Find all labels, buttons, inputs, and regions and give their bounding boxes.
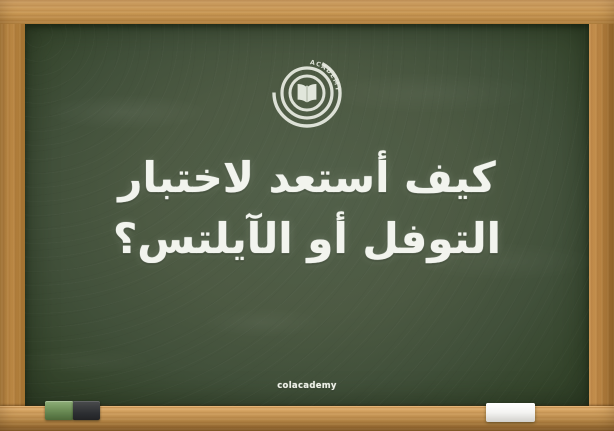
frame-right-rail — [588, 0, 614, 431]
brand-logo: ACADEMY — [270, 56, 344, 130]
headline-line-2: التوفل أو الآيلتس؟ — [25, 213, 589, 266]
frame-left-rail — [0, 0, 26, 431]
chalkboard-poster: ACADEMY كيف أستعد لاختبار التوفل أو الآي… — [0, 0, 614, 431]
headline: كيف أستعد لاختبار التوفل أو الآيلتس؟ — [25, 152, 589, 266]
eraser-green — [45, 401, 73, 420]
open-book-icon — [298, 84, 317, 102]
eraser-black — [73, 401, 100, 420]
footer-wordmark: colacademy — [25, 381, 589, 391]
headline-line-1: كيف أستعد لاختبار — [25, 152, 589, 205]
chalkboard-surface: ACADEMY كيف أستعد لاختبار التوفل أو الآي… — [25, 24, 589, 407]
chalk-white — [486, 403, 535, 422]
frame-top-rail — [0, 0, 614, 24]
